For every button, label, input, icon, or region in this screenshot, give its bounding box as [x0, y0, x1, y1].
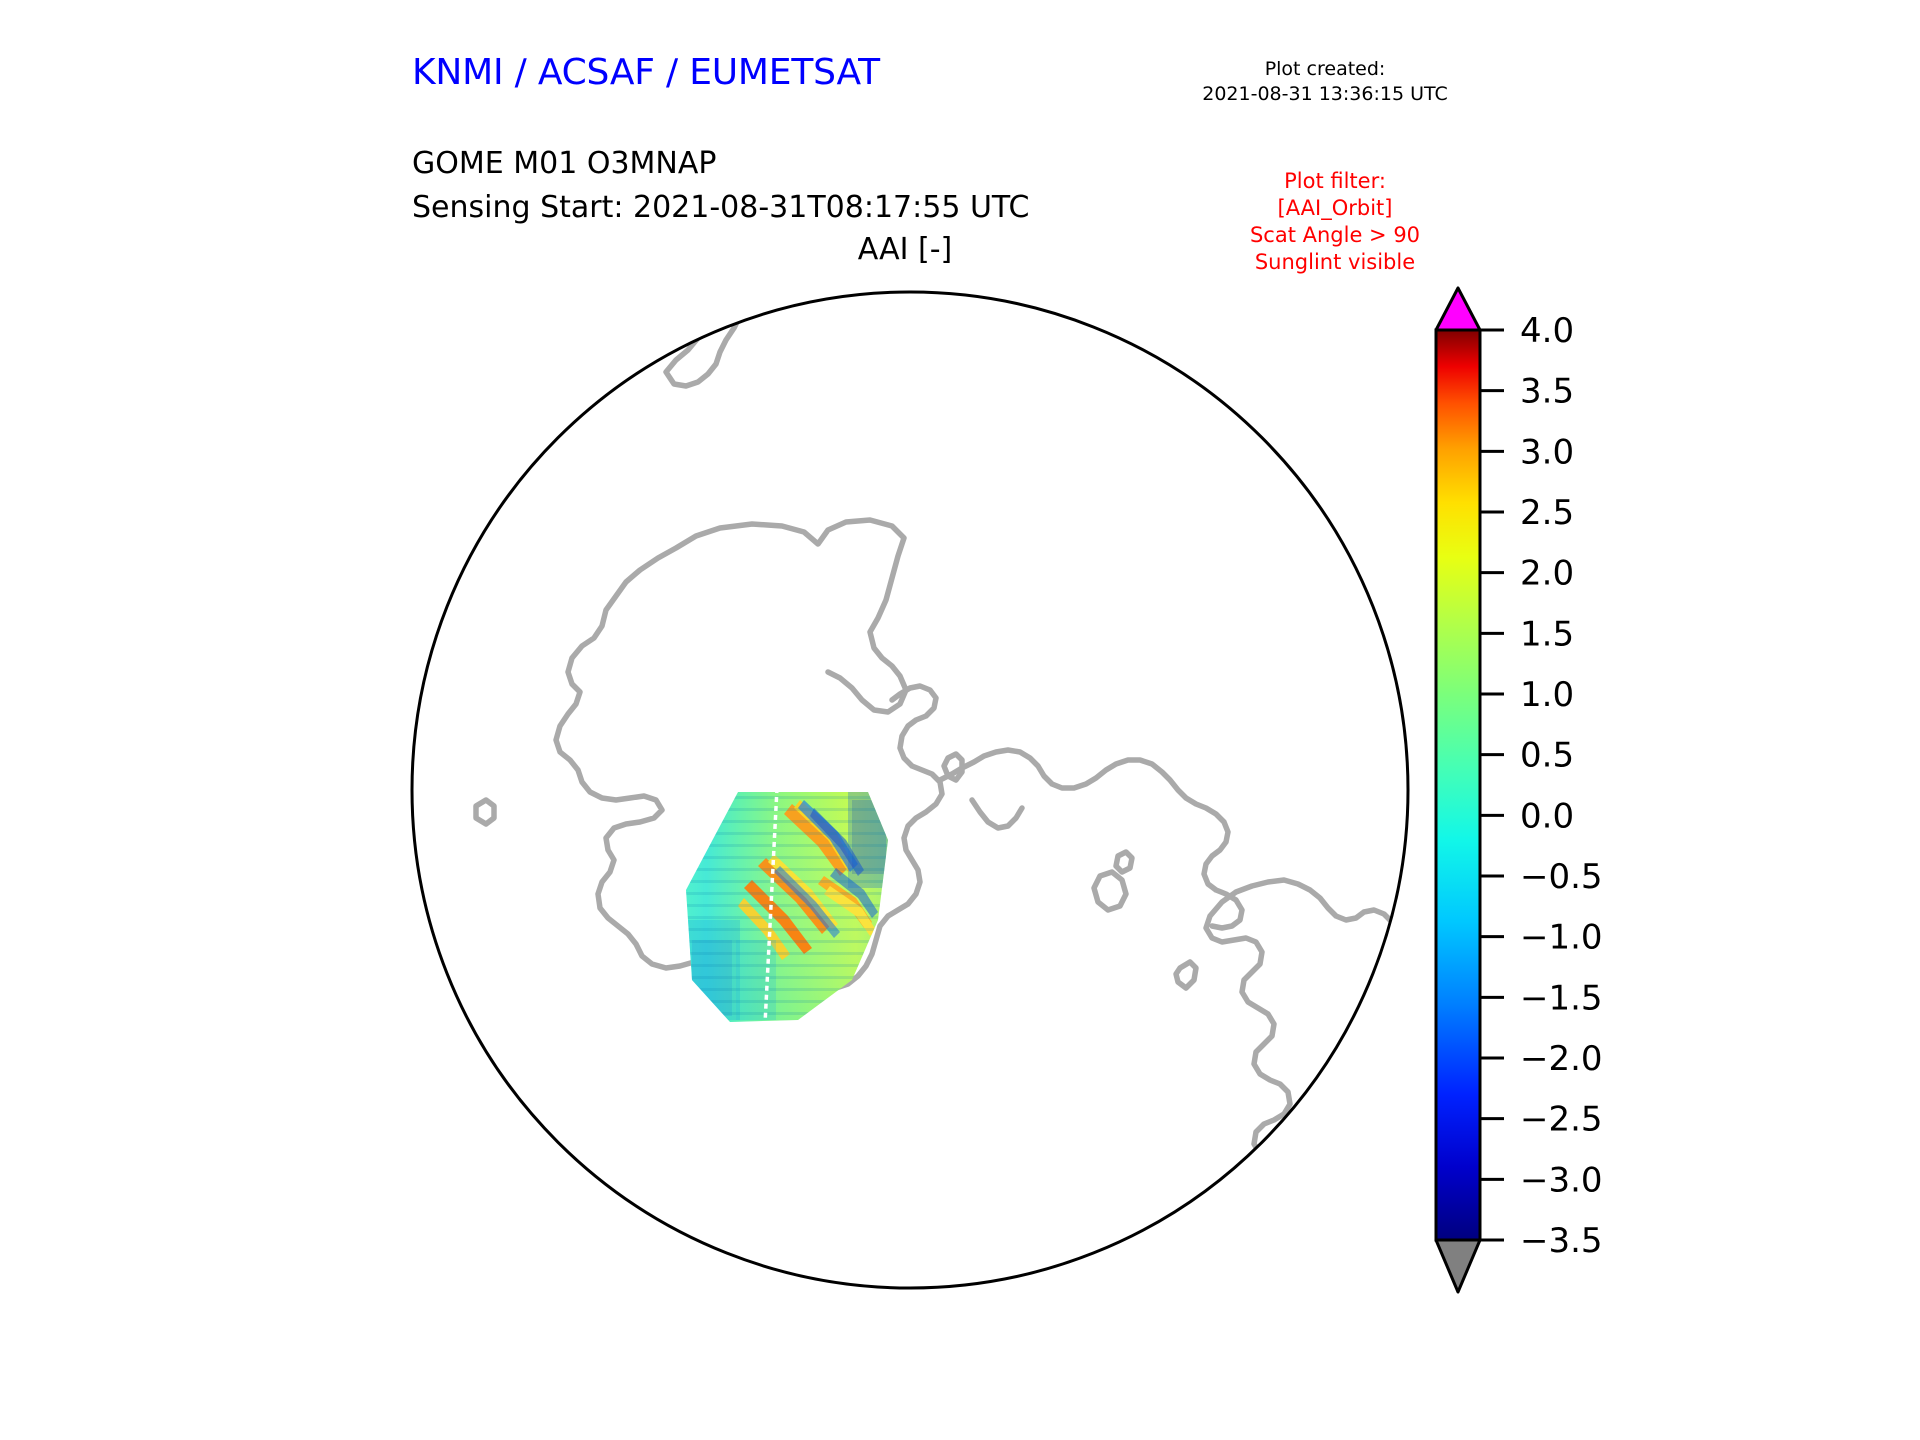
colorbar-tick-label: 3.5 [1520, 372, 1574, 412]
filter-label: Plot filter: [1180, 168, 1490, 195]
sensing-start: Sensing Start: 2021-08-31T08:17:55 UTC [412, 186, 1029, 230]
colorbar-tick-label: 1.5 [1520, 614, 1574, 654]
colorbar-tick-label: 2.0 [1520, 554, 1574, 594]
colorbar-ticks-group: 4.03.53.02.52.01.51.00.50.0−0.5−1.0−1.5−… [1480, 311, 1603, 1261]
product-info-block: GOME M01 O3MNAP Sensing Start: 2021-08-3… [412, 142, 1029, 230]
colorbar-gradient [1436, 330, 1480, 1240]
globe-disc [412, 292, 1408, 1288]
colorbar-tick-label: −3.0 [1520, 1160, 1603, 1200]
colorbar-tick-label: 0.0 [1520, 796, 1574, 836]
colorbar-tick-label: −1.0 [1520, 918, 1603, 958]
colorbar-tick-label: 4.0 [1520, 311, 1574, 351]
coastline-tasmania [486, 394, 518, 426]
colorbar-tick-label: −2.5 [1520, 1100, 1603, 1140]
organisation-title: KNMI / ACSAF / EUMETSAT [412, 52, 880, 93]
colorbar-over-arrow [1436, 288, 1480, 330]
filter-name: [AAI_Orbit] [1180, 195, 1490, 222]
map-svg [400, 280, 1420, 1300]
coastline-new-zealand-north [728, 280, 764, 310]
map-plot-area [400, 280, 1420, 1300]
colorbar-tick-label: −3.5 [1520, 1221, 1603, 1261]
plot-created-value: 2021-08-31 13:36:15 UTC [1160, 82, 1490, 107]
colorbar-tick-label: 3.0 [1520, 432, 1574, 472]
product-name: GOME M01 O3MNAP [412, 142, 1029, 186]
colorbar-under-arrow [1436, 1240, 1480, 1292]
plot-title: AAI [-] [700, 232, 1110, 267]
colorbar-tick-label: −1.5 [1520, 978, 1603, 1018]
colorbar-tick-label: 0.5 [1520, 736, 1574, 776]
colorbar-svg: 4.03.53.02.52.01.51.00.50.0−0.5−1.0−1.5−… [1424, 280, 1724, 1320]
colorbar-tick-label: 1.0 [1520, 675, 1574, 715]
filter-scat-angle: Scat Angle > 90 [1180, 222, 1490, 249]
plot-created-block: Plot created: 2021-08-31 13:36:15 UTC [1160, 57, 1490, 107]
colorbar-tick-label: 2.5 [1520, 493, 1574, 533]
colorbar-tick-label: −2.0 [1520, 1039, 1603, 1079]
plot-created-label: Plot created: [1160, 57, 1490, 82]
colorbar-tick-label: −0.5 [1520, 857, 1603, 897]
filter-sunglint: Sunglint visible [1180, 249, 1490, 276]
colorbar-area: 4.03.53.02.52.01.51.00.50.0−0.5−1.0−1.5−… [1424, 280, 1724, 1320]
plot-filter-block: Plot filter: [AAI_Orbit] Scat Angle > 90… [1180, 168, 1490, 276]
coastline-australia-south [408, 344, 462, 392]
